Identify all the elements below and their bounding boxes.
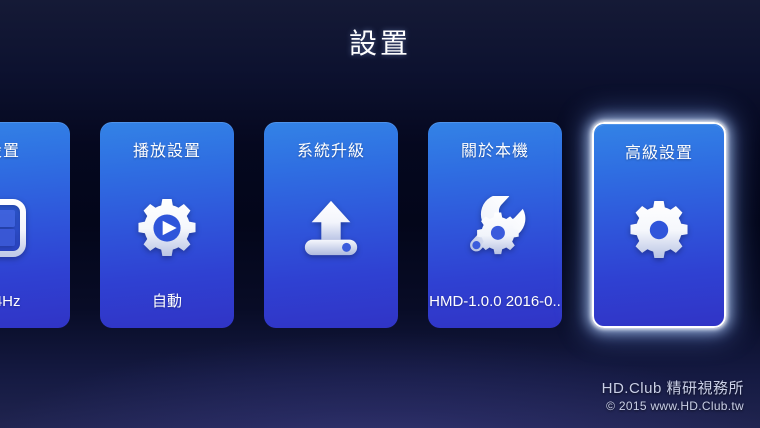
tile-display-settings[interactable]: 設置 24H <box>0 122 70 328</box>
upload-arrow-icon <box>264 190 398 266</box>
tile-surface[interactable]: 系統升級 <box>264 122 398 328</box>
gear-icon <box>594 192 724 268</box>
tile-advanced-settings[interactable]: 高級設置 <box>592 122 726 328</box>
tile-title: 播放設置 <box>100 142 234 162</box>
tile-about-device[interactable]: 關於本機 <box>428 122 562 328</box>
tile-value: HMD-1.0.0 2016-0.. <box>428 292 562 311</box>
tile-surface[interactable]: 高級設置 <box>592 122 726 328</box>
tile-title: 系統升級 <box>264 142 398 162</box>
display-icon <box>0 190 70 266</box>
tile-title: 高級設置 <box>594 144 724 164</box>
gear-play-icon <box>100 190 234 266</box>
tile-title: 關於本機 <box>428 142 562 162</box>
settings-tile-strip: 設置 24H <box>0 122 726 328</box>
settings-screen: 設置 設置 <box>0 0 760 428</box>
watermark-line-2: © 2015 www.HD.Club.tw <box>602 398 744 414</box>
tile-playback-settings[interactable]: 播放設置 自 <box>100 122 234 328</box>
page-title: 設置 <box>0 27 760 61</box>
tile-system-upgrade[interactable]: 系統升級 <box>264 122 398 328</box>
tile-value: 自動 <box>100 292 234 311</box>
wrench-gear-icon <box>428 190 562 266</box>
tile-surface[interactable]: 設置 24H <box>0 122 70 328</box>
tile-value: 24Hz <box>0 292 70 311</box>
watermark-line-1: HD.Club 精研視務所 <box>602 379 744 398</box>
tile-surface[interactable]: 關於本機 <box>428 122 562 328</box>
tile-surface[interactable]: 播放設置 自 <box>100 122 234 328</box>
tile-title: 設置 <box>0 142 70 162</box>
watermark: HD.Club 精研視務所 © 2015 www.HD.Club.tw <box>602 379 744 414</box>
